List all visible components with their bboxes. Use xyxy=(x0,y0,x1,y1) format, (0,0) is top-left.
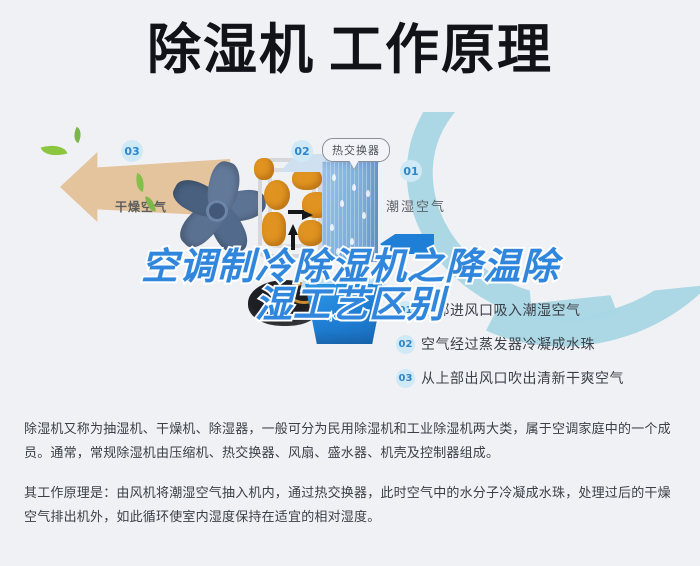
page-title: 除湿机工作原理 xyxy=(0,22,700,79)
flow-arrow-up-shaft xyxy=(291,234,295,250)
body-copy: 除湿机又称为抽湿机、干燥机、除湿器，一般可分为民用除湿机和工业除湿机两大类，属于… xyxy=(24,418,676,546)
leaf-icon xyxy=(70,127,85,144)
step-badge: 03 xyxy=(396,369,415,388)
diagram-badge-03: 03 xyxy=(121,140,143,162)
step-text: 空气经过蒸发器冷凝成水珠 xyxy=(421,334,595,354)
water-droplet-icon xyxy=(340,200,344,207)
step-text: 从上部出风口吹出清新干爽空气 xyxy=(421,368,624,388)
flow-arrow-up-icon xyxy=(288,224,298,235)
fan-hub xyxy=(206,200,228,222)
water-droplet-icon xyxy=(332,174,336,181)
water-droplet-icon xyxy=(352,184,356,191)
flow-arrow-right-icon xyxy=(302,210,313,220)
copper-coil xyxy=(262,212,286,246)
water-droplet-icon xyxy=(336,248,340,255)
evaporator-block xyxy=(322,162,378,262)
water-droplet-icon xyxy=(350,238,354,245)
dry-air-label: 干燥空气 xyxy=(115,198,167,215)
leaf-icon xyxy=(41,141,68,160)
infographic-page: 除湿机工作原理 干燥空气 xyxy=(0,0,700,566)
humid-air-label: 潮湿空气 xyxy=(386,196,446,215)
list-item: 01 下部进风口吸入潮湿空气 xyxy=(396,300,696,320)
body-paragraph-2: 其工作原理是：由风机将潮湿空气抽入机内，通过热交换器，此时空气中的水分子冷凝成水… xyxy=(24,482,676,530)
air-inlet-arrow-icon xyxy=(380,234,434,254)
copper-coil xyxy=(298,220,324,246)
diagram-badge-02: 02 xyxy=(291,140,313,162)
water-droplet-icon xyxy=(362,212,366,219)
step-badge: 02 xyxy=(396,335,415,354)
step-text: 下部进风口吸入潮湿空气 xyxy=(421,300,581,320)
illustration-stage: 干燥空气 xyxy=(0,112,700,397)
copper-coil xyxy=(264,180,290,210)
title-part-2: 工作原理 xyxy=(329,18,553,81)
body-paragraph-1: 除湿机又称为抽湿机、干燥机、除湿器，一般可分为民用除湿机和工业除湿机两大类，属于… xyxy=(24,418,676,466)
list-item: 03 从上部出风口吹出清新干爽空气 xyxy=(396,368,696,388)
water-droplet-icon xyxy=(330,224,334,231)
step-badge: 01 xyxy=(396,301,415,320)
diagram-badge-01: 01 xyxy=(400,160,422,182)
copper-coil xyxy=(254,158,274,180)
heat-exchanger-callout: 热交换器 xyxy=(322,138,390,162)
list-item: 02 空气经过蒸发器冷凝成水珠 xyxy=(396,334,696,354)
steps-list: 01 下部进风口吸入潮湿空气 02 空气经过蒸发器冷凝成水珠 03 从上部出风口… xyxy=(396,300,696,397)
water-droplet-icon xyxy=(366,190,370,197)
sweep-mask xyxy=(510,112,700,303)
title-part-1: 除湿机 xyxy=(147,18,315,81)
water-tank-label: 水箱 xyxy=(326,308,350,324)
